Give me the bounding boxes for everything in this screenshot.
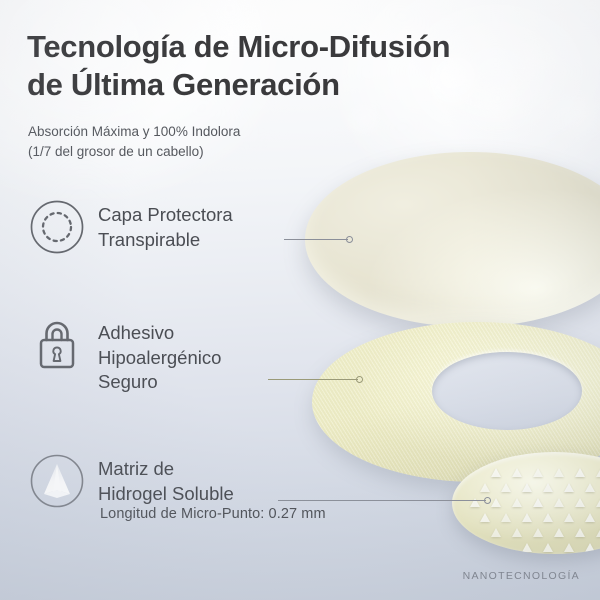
vignette-overlay xyxy=(0,0,600,600)
